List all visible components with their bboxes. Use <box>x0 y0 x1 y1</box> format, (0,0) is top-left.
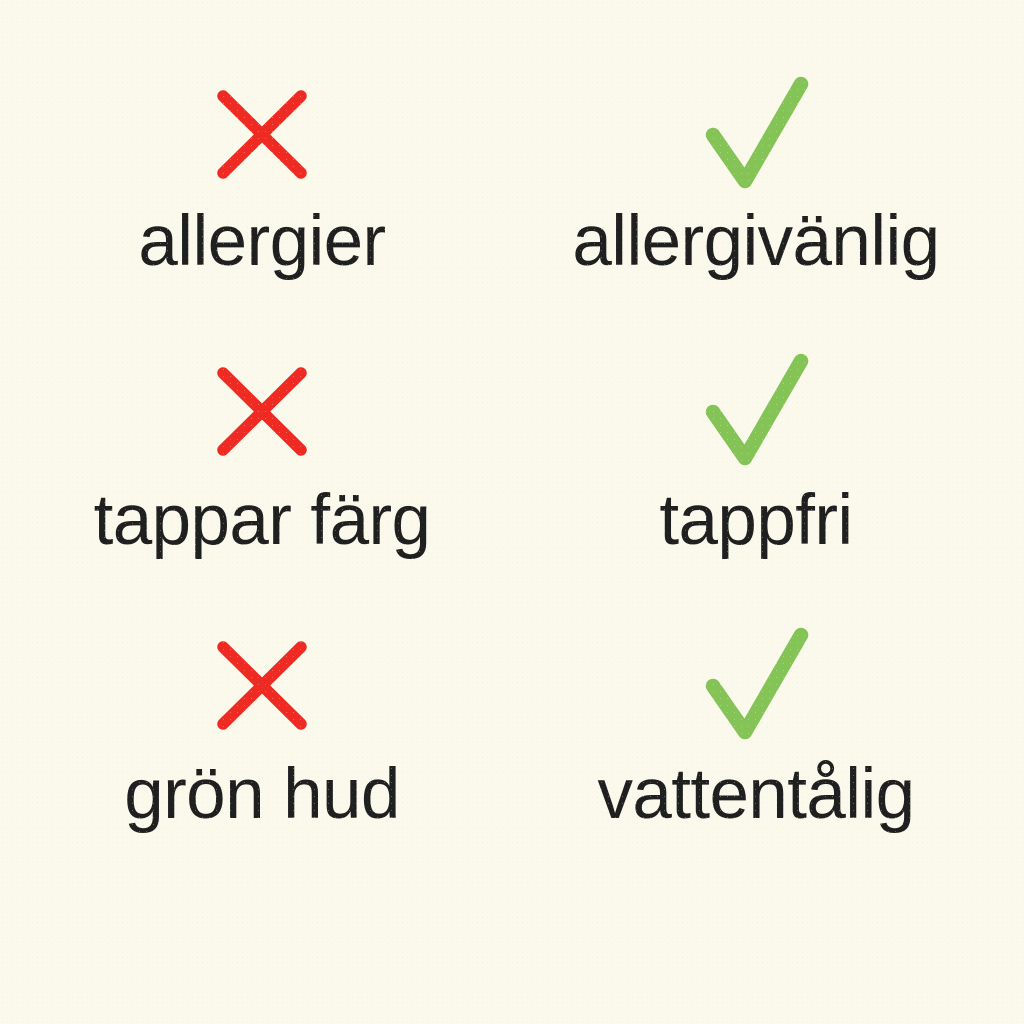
comparison-label: vattentålig <box>597 757 914 832</box>
comparison-graphic: allergier allergivänlig tappar färg <box>0 0 1024 1024</box>
comparison-item-positive-1: allergivänlig <box>500 74 1012 349</box>
comparison-item-negative-1: allergier <box>6 74 518 349</box>
comparison-item-positive-2: tappfri <box>500 349 1012 624</box>
comparison-label: allergivänlig <box>572 204 939 279</box>
comparison-label: tappfri <box>659 483 852 558</box>
comparison-label: grön hud <box>124 757 400 832</box>
check-icon <box>700 80 812 192</box>
comparison-item-negative-3: grön hud <box>6 625 518 900</box>
cross-icon <box>206 357 318 469</box>
check-icon <box>700 631 812 743</box>
cross-icon <box>206 80 318 192</box>
cross-icon <box>206 631 318 743</box>
comparison-label: tappar färg <box>94 483 431 558</box>
comparison-grid: allergier allergivänlig tappar färg <box>0 0 1024 900</box>
comparison-item-negative-2: tappar färg <box>6 349 518 624</box>
check-icon <box>700 357 812 469</box>
comparison-item-positive-3: vattentålig <box>500 625 1012 900</box>
comparison-label: allergier <box>138 204 385 279</box>
